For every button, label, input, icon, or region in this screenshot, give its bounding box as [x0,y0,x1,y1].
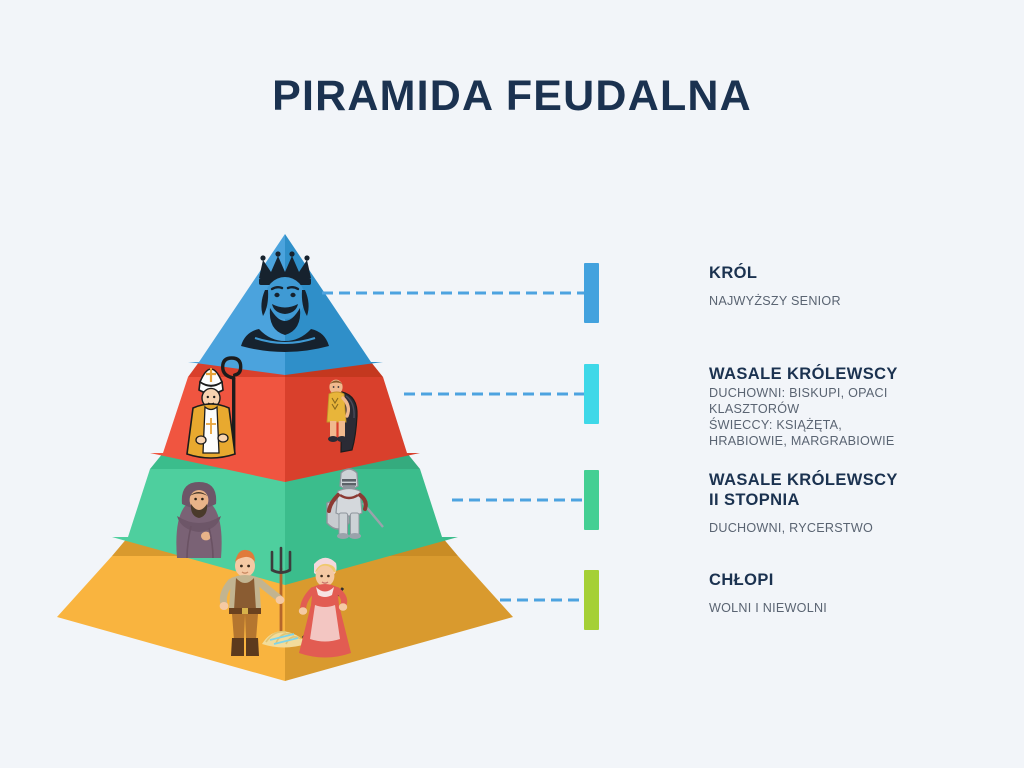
legend-subtitle-chlopi: WOLNI I NIEWOLNI [709,600,1024,616]
pyramid-tier-chlopi[interactable] [57,537,513,681]
legend-bar-krol [584,263,599,323]
tier-wasale-face-right [285,377,420,482]
pitchfork-icon [272,548,290,636]
legend-subtitle-krol: NAJWYŻSZY SENIOR [709,293,1024,309]
legend-bar-wasale [584,364,599,424]
hay-icon [262,631,306,647]
tier-krol-face-right [285,234,383,375]
legend-bar-chlopi [584,570,599,630]
peasant-woman-icon [299,558,351,658]
legend-title-krol: KRÓL [709,263,1024,283]
tier-chlopi-face-left [57,556,285,681]
tier-wasale-top-left [188,362,285,377]
tier-wasale-ii-face-left [112,469,285,585]
tier-wasale-face-left [150,377,285,482]
connector-lines [322,293,584,600]
pyramid-tier-wasale-ii[interactable] [112,453,458,585]
tier-chlopi-top-right [285,537,458,556]
legend-title-chlopi: CHŁOPI [709,570,1024,590]
pyramid-tier-krol[interactable] [188,234,383,375]
infographic-canvas: PIRAMIDA FEUDALNA [0,0,1024,768]
legend-bar-wasale-ii [584,470,599,530]
tier-wasale-ii-top-right [285,453,420,469]
legend-subtitle-wasale-ii: DUCHOWNI, RYCERSTWO [709,520,1024,536]
pyramid-tier-wasale[interactable] [150,362,420,482]
tier-krol-face-left [188,234,285,375]
knight-icon [327,469,383,539]
page-title: PIRAMIDA FEUDALNA [0,72,1024,121]
legend-subtitle-wasale: DUCHOWNI: BISKUPI, OPACI KLASZTORÓW ŚWIE… [709,385,1024,449]
nobleman-icon [327,380,357,452]
legend-title-wasale: WASALE KRÓLEWSCY [709,364,1024,384]
monk-icon [176,482,221,558]
tier-chlopi-face-right [285,556,513,681]
king-bust-icon [241,251,329,352]
bishop-icon [187,358,241,458]
tier-wasale-ii-face-right [285,469,458,585]
legend-title-wasale-ii: WASALE KRÓLEWSCY II STOPNIA [709,470,1024,510]
tier-wasale-ii-top-left [150,453,285,469]
tier-chlopi-top-left [112,537,285,556]
tier-wasale-top-right [285,362,383,377]
peasant-man-icon [220,550,285,656]
